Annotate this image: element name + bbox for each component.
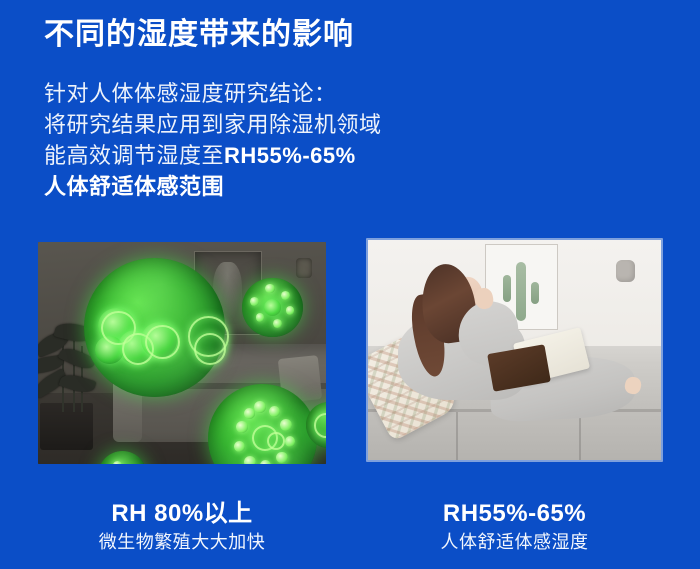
plant-pot-dark [40, 403, 94, 450]
microbe-spike [234, 441, 245, 452]
wall-switch-icon [296, 258, 312, 278]
caption-right-subtitle: 人体舒适体感湿度 [366, 529, 663, 555]
paragraph-line-4: 人体舒适体感范围 [44, 171, 474, 202]
caption-left-subtitle: 微生物繁殖大大加快 [38, 529, 326, 555]
paragraph-line-2: 将研究结果应用到家用除湿机领域 [44, 109, 474, 140]
humidity-range-highlight: RH55%-65% [224, 143, 356, 168]
photo-high-humidity-microbes [38, 242, 326, 464]
microbe-spike [113, 461, 122, 464]
woman-reading [380, 260, 644, 449]
light-room-scene [368, 240, 661, 460]
caption-left-title: RH 80%以上 [38, 499, 326, 529]
poster-root: 不同的湿度带来的影响 针对人体体感湿度研究结论： 将研究结果应用到家用除湿机领域… [0, 0, 700, 569]
microbe-spike [256, 313, 264, 321]
microbe-spike [276, 452, 288, 464]
microbe-spike [250, 297, 259, 306]
caption-right-title: RH55%-65% [366, 499, 663, 529]
microbe-sphere-large [84, 258, 225, 398]
description-paragraph: 针对人体体感湿度研究结论： 将研究结果应用到家用除湿机领域 能高效调节湿度至RH… [44, 78, 474, 202]
paragraph-line-3: 能高效调节湿度至RH55%-65% [44, 140, 474, 171]
microbe-ring [145, 325, 180, 360]
microbe-sphere-top [242, 278, 302, 338]
plant-stem [73, 332, 75, 412]
microbe-spike [281, 291, 290, 300]
microbe-spike [286, 306, 294, 314]
paragraph-line-1: 针对人体体感湿度研究结论： [44, 78, 474, 109]
page-title: 不同的湿度带来的影响 [44, 16, 354, 54]
microbe-spike [244, 456, 256, 464]
microbe-core [264, 299, 281, 316]
microbe-spike [265, 284, 275, 294]
caption-right: RH55%-65% 人体舒适体感湿度 [366, 499, 663, 555]
microbe-spike [280, 419, 292, 431]
photo-comfort-humidity-woman [366, 238, 663, 462]
microbe-spike [244, 408, 255, 419]
paragraph-line-3-prefix: 能高效调节湿度至 [44, 143, 224, 168]
caption-left: RH 80%以上 微生物繁殖大大加快 [38, 499, 326, 555]
dark-room-scene [38, 242, 326, 464]
microbe-spike [269, 406, 280, 417]
